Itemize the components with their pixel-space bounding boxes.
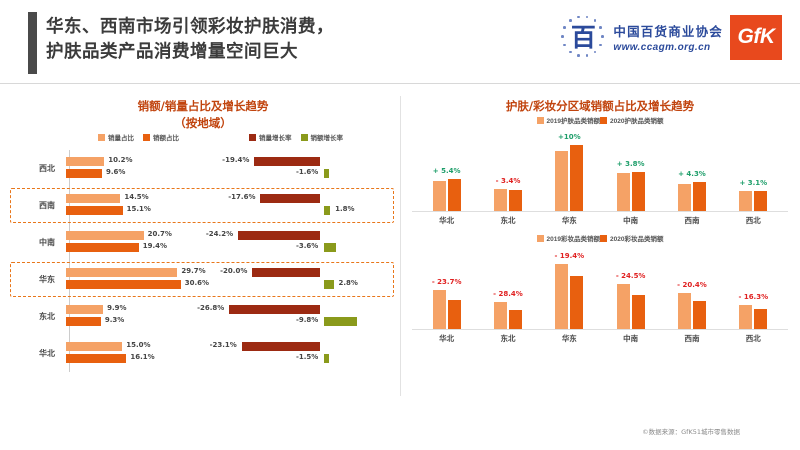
share-bar-value: 15.1% — [127, 205, 151, 213]
ccagm-decorative-dot — [569, 19, 572, 22]
growth-bars: -17.6%1.8% — [222, 187, 398, 224]
skincare-category-label: 中南 — [611, 215, 651, 226]
legend-growth: 销量增长率销额增长率 — [249, 132, 343, 142]
page-title: 华东、西南市场引领彩妆护肤消费， 护肤品类产品消费增量空间巨大 — [46, 14, 516, 65]
skincare-category-label: 华东 — [549, 215, 589, 226]
volume-growth-value: -17.6% — [228, 193, 255, 201]
volume-growth-bar — [252, 268, 320, 277]
skincare-growth-label: + 3.8% — [617, 160, 645, 168]
share-bar — [66, 243, 139, 252]
makeup-bar-2019 — [739, 305, 752, 329]
share-bars: 20.7%19.4% — [62, 224, 222, 261]
share-bar-value: 29.7% — [181, 267, 205, 275]
makeup-bar-group: - 24.5% — [617, 247, 645, 329]
skincare-bar-2019 — [678, 184, 691, 211]
makeup-bar-group: - 23.7% — [433, 247, 461, 329]
skincare-bar-group: + 3.8% — [617, 129, 645, 211]
skincare-bar-2019 — [494, 189, 507, 212]
ccagm-glyph: 百 — [571, 25, 596, 50]
panel-divider — [400, 96, 401, 396]
ccagm-decorative-dot — [586, 54, 589, 57]
makeup-growth-label: - 28.4% — [493, 290, 523, 298]
skincare-legend-item[interactable]: 2019护肤品类销额 — [537, 115, 600, 125]
volume-growth-value: -23.1% — [210, 341, 237, 349]
volume-growth-value: -24.2% — [206, 230, 233, 238]
makeup-growth-label: - 23.7% — [432, 278, 462, 286]
makeup-bar-2020 — [509, 310, 522, 329]
ccagm-decorative-dot — [577, 16, 580, 19]
makeup-bar-2019 — [433, 290, 446, 330]
makeup-chart: 2019彩妆品类销额2020彩妆品类销额 - 23.7%- 28.4%- 19.… — [402, 233, 798, 351]
makeup-category-label: 西南 — [672, 333, 712, 344]
share-bar-value: 19.4% — [143, 242, 167, 250]
logo-group: 百 中国百货商业协会 www.ccagm.org.cn GfK — [560, 14, 782, 60]
share-bar-value: 16.1% — [130, 353, 154, 361]
makeup-legend-label: 2020彩妆品类销额 — [610, 233, 663, 243]
ccagm-decorative-dot — [594, 19, 597, 22]
ccagm-decorative-dot — [569, 51, 572, 54]
share-bar-value: 10.2% — [108, 156, 132, 164]
value-growth-bar — [324, 354, 329, 363]
left-chart-title: 销额/销量占比及增长趋势 （按地域） — [8, 98, 398, 133]
makeup-bar-2019 — [494, 302, 507, 329]
skincare-legend-label: 2019护肤品类销额 — [547, 115, 600, 125]
ccagm-decorative-dot — [601, 35, 604, 38]
ccagm-logo-text: 中国百货商业协会 www.ccagm.org.cn — [613, 21, 723, 53]
page-title-line1: 华东、西南市场引领彩妆护肤消费， — [46, 14, 516, 39]
growth-bars: -20.0%2.8% — [222, 261, 398, 298]
ccagm-decorative-dot — [563, 44, 566, 47]
skincare-categories: 华北东北华东中南西南西北 — [402, 212, 798, 226]
value-growth-bar — [324, 243, 336, 252]
skincare-bar-group: + 4.3% — [678, 129, 706, 211]
share-bars: 14.5%15.1% — [62, 187, 222, 224]
value-growth-value: 2.8% — [339, 279, 358, 287]
share-bar-value: 9.6% — [106, 168, 125, 176]
share-bar — [66, 194, 120, 203]
left-chart-title-line2: （按地域） — [8, 115, 398, 132]
skincare-bar-2020 — [632, 172, 645, 212]
skincare-bar-group: + 5.4% — [433, 129, 461, 211]
left-chart-panel: 销额/销量占比及增长趋势 （按地域） 销量占比销额占比 销量增长率销额增长率 西… — [8, 96, 398, 396]
skincare-bar-2019 — [739, 191, 752, 211]
skincare-category-label: 西北 — [733, 215, 773, 226]
value-growth-value: -1.6% — [296, 168, 318, 176]
skincare-growth-label: + 4.3% — [678, 170, 706, 178]
region-label: 华北 — [8, 348, 62, 359]
legend-swatch-icon — [301, 134, 308, 141]
legend-share: 销量占比销额占比 — [98, 132, 179, 142]
makeup-growth-label: - 24.5% — [616, 272, 646, 280]
share-bar — [66, 305, 103, 314]
skincare-growth-label: - 3.4% — [496, 177, 521, 185]
source-note: ©数据来源：GfK51城市零售数据 — [642, 426, 740, 436]
left-chart-legends: 销量占比销额占比 销量增长率销额增长率 — [8, 132, 398, 142]
value-growth-value: -1.5% — [296, 353, 318, 361]
makeup-bar-2020 — [570, 276, 583, 329]
left-chart-row: 西北10.2%9.6%-19.4%-1.6% — [8, 150, 398, 187]
share-bar — [66, 354, 126, 363]
value-growth-bar — [324, 317, 357, 326]
ccagm-url: www.ccagm.org.cn — [613, 42, 723, 53]
share-bar — [66, 317, 101, 326]
page-title-line2: 护肤品类产品消费增量空间巨大 — [46, 39, 516, 64]
skincare-legend: 2019护肤品类销额2020护肤品类销额 — [402, 115, 798, 125]
volume-growth-bar — [242, 342, 320, 351]
share-bar — [66, 342, 122, 351]
volume-growth-bar — [229, 305, 320, 314]
makeup-bar-2019 — [555, 264, 568, 330]
legend-growth-label: 销额增长率 — [311, 132, 344, 142]
legend-share-item[interactable]: 销额占比 — [143, 132, 179, 142]
ccagm-decorative-dot — [563, 26, 566, 29]
ccagm-logo-icon: 百 — [560, 14, 606, 60]
left-chart-row: 西南14.5%15.1%-17.6%1.8% — [8, 187, 398, 224]
region-label: 西南 — [8, 200, 62, 211]
legend-share-item[interactable]: 销量占比 — [98, 132, 134, 142]
makeup-axis-line — [412, 329, 788, 330]
makeup-legend-label: 2019彩妆品类销额 — [547, 233, 600, 243]
ccagm-decorative-dot — [586, 16, 589, 19]
legend-share-label: 销额占比 — [153, 132, 179, 142]
skincare-chart: 2019护肤品类销额2020护肤品类销额 + 5.4%- 3.4%+10%+ 3… — [402, 115, 798, 233]
volume-growth-bar — [254, 157, 320, 166]
share-bar-value: 30.6% — [185, 279, 209, 287]
value-growth-bar — [324, 280, 334, 289]
skincare-bar-2020 — [754, 191, 767, 212]
region-label: 中南 — [8, 237, 62, 248]
makeup-bar-group: - 16.3% — [739, 247, 767, 329]
makeup-legend-item[interactable]: 2019彩妆品类销额 — [537, 233, 600, 243]
skincare-legend-item[interactable]: 2020护肤品类销额 — [600, 115, 663, 125]
gfk-logo-text: GfK — [738, 25, 775, 49]
left-chart-row: 中南20.7%19.4%-24.2%-3.6% — [8, 224, 398, 261]
makeup-bar-group: - 19.4% — [555, 247, 583, 329]
share-bar-value: 14.5% — [124, 193, 148, 201]
makeup-growth-label: - 20.4% — [677, 281, 707, 289]
slide-root: 华东、西南市场引领彩妆护肤消费， 护肤品类产品消费增量空间巨大 百 中国百货商业… — [0, 0, 800, 450]
header-divider — [0, 83, 800, 84]
gfk-logo-icon: GfK — [730, 15, 782, 60]
makeup-category-label: 东北 — [488, 333, 528, 344]
region-label: 华东 — [8, 274, 62, 285]
legend-swatch-icon — [143, 134, 150, 141]
ccagm-decorative-dot — [577, 54, 580, 57]
skincare-growth-label: + 3.1% — [739, 179, 767, 187]
legend-growth-item[interactable]: 销额增长率 — [301, 132, 344, 142]
makeup-category-label: 华北 — [427, 333, 467, 344]
share-bar — [66, 268, 177, 277]
ccagm-decorative-dot — [599, 44, 602, 47]
left-chart-row: 华东29.7%30.6%-20.0%2.8% — [8, 261, 398, 298]
skincare-bar-2020 — [570, 145, 583, 212]
share-bars: 29.7%30.6% — [62, 261, 222, 298]
ccagm-name: 中国百货商业协会 — [613, 21, 723, 40]
left-chart-rows: 西北10.2%9.6%-19.4%-1.6%西南14.5%15.1%-17.6%… — [8, 150, 398, 372]
share-bar — [66, 206, 123, 215]
share-bar-value: 20.7% — [148, 230, 172, 238]
legend-swatch-icon — [600, 117, 607, 124]
share-bar — [66, 157, 104, 166]
share-bar-value: 9.3% — [105, 316, 124, 324]
skincare-bar-group: - 3.4% — [494, 129, 522, 211]
share-bar-value: 15.0% — [126, 341, 150, 349]
left-chart-row: 东北9.9%9.3%-26.8%-9.8% — [8, 298, 398, 335]
legend-swatch-icon — [537, 235, 544, 242]
value-growth-value: -3.6% — [296, 242, 318, 250]
growth-bars: -19.4%-1.6% — [222, 150, 398, 187]
skincare-plot: + 5.4%- 3.4%+10%+ 3.8%+ 4.3%+ 3.1% — [402, 129, 798, 211]
legend-swatch-icon — [249, 134, 256, 141]
makeup-bar-group: - 20.4% — [678, 247, 706, 329]
legend-swatch-icon — [537, 117, 544, 124]
skincare-bar-2019 — [433, 181, 446, 212]
left-chart-title-line1: 销额/销量占比及增长趋势 — [8, 98, 398, 115]
skincare-category-label: 华北 — [427, 215, 467, 226]
ccagm-decorative-dot — [561, 35, 564, 38]
legend-swatch-icon — [98, 134, 105, 141]
skincare-growth-label: +10% — [558, 133, 581, 141]
share-bars: 10.2%9.6% — [62, 150, 222, 187]
makeup-bar-2020 — [693, 301, 706, 329]
skincare-axis-line — [412, 211, 788, 212]
share-bars: 15.0%16.1% — [62, 335, 222, 372]
makeup-plot: - 23.7%- 28.4%- 19.4%- 24.5%- 20.4%- 16.… — [402, 247, 798, 329]
slide-header: 华东、西南市场引领彩妆护肤消费， 护肤品类产品消费增量空间巨大 百 中国百货商业… — [0, 0, 800, 84]
title-accent-bar — [28, 12, 37, 74]
share-bar — [66, 280, 181, 289]
makeup-bar-group: - 28.4% — [494, 247, 522, 329]
skincare-bar-group: +10% — [555, 129, 583, 211]
growth-bars: -26.8%-9.8% — [222, 298, 398, 335]
makeup-category-label: 华东 — [549, 333, 589, 344]
makeup-bar-2020 — [632, 295, 645, 329]
ccagm-decorative-dot — [599, 26, 602, 29]
legend-growth-item[interactable]: 销量增长率 — [249, 132, 292, 142]
skincare-bar-group: + 3.1% — [739, 129, 767, 211]
volume-growth-bar — [238, 231, 320, 240]
makeup-growth-label: - 16.3% — [738, 293, 768, 301]
volume-growth-value: -19.4% — [222, 156, 249, 164]
makeup-growth-label: - 19.4% — [554, 252, 584, 260]
right-chart-title: 护肤/彩妆分区域销额占比及增长趋势 — [402, 98, 798, 115]
makeup-bar-2019 — [678, 293, 691, 329]
skincare-category-label: 西南 — [672, 215, 712, 226]
makeup-bar-2020 — [754, 309, 767, 329]
share-bar-value: 9.9% — [107, 304, 126, 312]
makeup-category-label: 西北 — [733, 333, 773, 344]
legend-share-label: 销量占比 — [108, 132, 134, 142]
value-growth-value: 1.8% — [335, 205, 354, 213]
makeup-legend: 2019彩妆品类销额2020彩妆品类销额 — [402, 233, 798, 243]
ccagm-decorative-dot — [594, 51, 597, 54]
right-chart-panel: 护肤/彩妆分区域销额占比及增长趋势 2019护肤品类销额2020护肤品类销额 +… — [402, 96, 798, 396]
value-growth-value: -9.8% — [296, 316, 318, 324]
volume-growth-value: -26.8% — [197, 304, 224, 312]
region-label: 西北 — [8, 163, 62, 174]
makeup-categories: 华北东北华东中南西南西北 — [402, 330, 798, 344]
makeup-category-label: 中南 — [611, 333, 651, 344]
makeup-bar-2019 — [617, 284, 630, 329]
skincare-bar-2020 — [448, 179, 461, 211]
share-bar — [66, 231, 144, 240]
legend-growth-label: 销量增长率 — [259, 132, 292, 142]
makeup-legend-item[interactable]: 2020彩妆品类销额 — [600, 233, 663, 243]
growth-bars: -24.2%-3.6% — [222, 224, 398, 261]
skincare-legend-label: 2020护肤品类销额 — [610, 115, 663, 125]
skincare-bar-2019 — [617, 173, 630, 211]
skincare-growth-label: + 5.4% — [433, 167, 461, 175]
value-growth-bar — [324, 169, 329, 178]
value-growth-bar — [324, 206, 330, 215]
region-label: 东北 — [8, 311, 62, 322]
volume-growth-value: -20.0% — [220, 267, 247, 275]
share-bar — [66, 169, 102, 178]
legend-swatch-icon — [600, 235, 607, 242]
growth-bars: -23.1%-1.5% — [222, 335, 398, 372]
skincare-bar-2020 — [693, 182, 706, 212]
makeup-bar-2020 — [448, 300, 461, 330]
skincare-bar-2020 — [509, 190, 522, 212]
left-chart-row: 华北15.0%16.1%-23.1%-1.5% — [8, 335, 398, 372]
skincare-bar-2019 — [555, 151, 568, 211]
volume-growth-bar — [260, 194, 320, 203]
skincare-category-label: 东北 — [488, 215, 528, 226]
